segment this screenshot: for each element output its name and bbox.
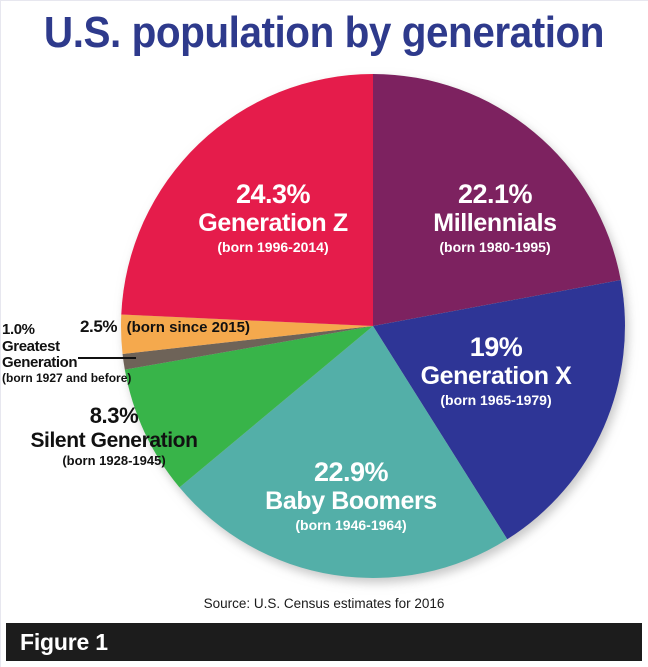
source-note: Source: U.S. Census estimates for 2016 xyxy=(0,596,648,611)
slice-label-generation-x: 19% Generation X (born 1965-1979) xyxy=(403,333,589,408)
slice-label-baby-boomers: 22.9% Baby Boomers (born 1946-1964) xyxy=(232,458,470,533)
slice-label-millennials: 22.1% Millennials (born 1980-1995) xyxy=(399,180,591,255)
figure-caption-bar: Figure 1 xyxy=(6,623,642,661)
slice-pct-greatest-generation: 1.0% xyxy=(2,322,131,339)
figure-container: U.S. population by generation 24.3% Gene… xyxy=(0,0,648,667)
pie-chart: 24.3% Generation Z (born 1996-2014) 22.1… xyxy=(0,0,648,600)
slice-born-generation-z: (born 1996-2014) xyxy=(173,240,373,255)
slice-born-baby-boomers: (born 1946-1964) xyxy=(232,518,470,533)
slice-born-greatest-generation: (born 1927 and before) xyxy=(2,372,131,385)
slice-pct-generation-x: 19% xyxy=(403,333,589,362)
slice-name-generation-z: Generation Z xyxy=(173,210,373,237)
slice-born-millennials: (born 1980-1995) xyxy=(399,240,591,255)
slice-label-generation-z: 24.3% Generation Z (born 1996-2014) xyxy=(173,180,373,255)
slice-born-newest: (born since 2015) xyxy=(127,319,250,336)
slice-name-silent-generation: Silent Generation xyxy=(0,429,228,452)
slice-label-silent-generation: 8.3% Silent Generation (born 1928-1945) xyxy=(0,404,228,469)
slice-name-baby-boomers: Baby Boomers xyxy=(232,488,470,515)
figure-caption-label: Figure 1 xyxy=(6,629,108,656)
slice-name-millennials: Millennials xyxy=(399,210,591,237)
slice-born-silent-generation: (born 1928-1945) xyxy=(0,454,228,468)
slice-pct-baby-boomers: 22.9% xyxy=(232,458,470,487)
leader-line-greatest-generation xyxy=(78,357,136,359)
slice-pct-generation-z: 24.3% xyxy=(173,180,373,209)
slice-label-greatest-generation: 1.0% Greatest Generation (born 1927 and … xyxy=(2,322,131,385)
slice-born-generation-x: (born 1965-1979) xyxy=(403,393,589,408)
slice-name-generation-x: Generation X xyxy=(403,363,589,390)
slice-pct-silent-generation: 8.3% xyxy=(0,404,228,428)
slice-pct-millennials: 22.1% xyxy=(399,180,591,209)
slice-name-greatest-generation-line1: Greatest xyxy=(2,339,131,356)
